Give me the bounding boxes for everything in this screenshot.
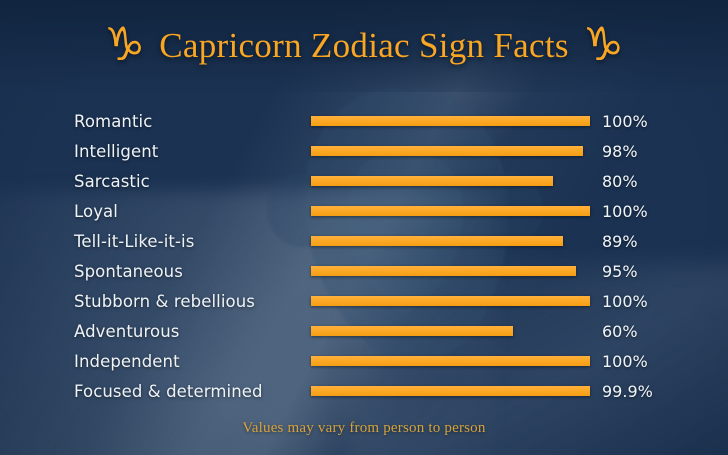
chart-bar	[311, 326, 513, 336]
chart-bar-track	[311, 176, 728, 186]
facts-bar-chart: Romantic100%Intelligent98%Sarcastic80%Lo…	[0, 106, 728, 406]
chart-row: Tell-it-Like-it-is89%	[0, 226, 728, 256]
chart-row-label: Intelligent	[74, 142, 304, 161]
chart-bar	[311, 386, 590, 396]
chart-row-label: Loyal	[74, 202, 304, 221]
chart-bar-track	[311, 146, 728, 156]
footnote-disclaimer: Values may vary from person to person	[0, 420, 728, 437]
chart-row: Loyal100%	[0, 196, 728, 226]
chart-bar	[311, 296, 590, 306]
chart-bar	[311, 266, 576, 276]
chart-bar-track	[311, 236, 728, 246]
chart-row-value: 95%	[602, 262, 638, 281]
chart-row-label: Focused & determined	[74, 382, 304, 401]
chart-row: Focused & determined99.9%	[0, 376, 728, 406]
chart-row-value: 98%	[602, 142, 638, 161]
chart-row: Romantic100%	[0, 106, 728, 136]
chart-row-value: 100%	[602, 352, 648, 371]
chart-row-label: Stubborn & rebellious	[74, 292, 304, 311]
chart-row-label: Adventurous	[74, 322, 304, 341]
chart-bar-track	[311, 356, 728, 366]
chart-row-value: 100%	[602, 292, 648, 311]
chart-bar-track	[311, 266, 728, 276]
capricorn-glyph-right-icon: ♑	[583, 21, 624, 67]
header: ♑ Capricorn Zodiac Sign Facts ♑	[0, 0, 728, 92]
chart-row: Sarcastic80%	[0, 166, 728, 196]
chart-bar-track	[311, 386, 728, 396]
chart-row-value: 100%	[602, 112, 648, 131]
chart-row: Stubborn & rebellious100%	[0, 286, 728, 316]
chart-bar	[311, 146, 583, 156]
chart-bar	[311, 116, 590, 126]
chart-row-value: 80%	[602, 172, 638, 191]
chart-row-value: 60%	[602, 322, 638, 341]
chart-bar	[311, 236, 563, 246]
chart-row-label: Sarcastic	[74, 172, 304, 191]
chart-bar-track	[311, 116, 728, 126]
chart-bar-track	[311, 326, 728, 336]
chart-bar-track	[311, 206, 728, 216]
chart-row-value: 100%	[602, 202, 648, 221]
chart-bar	[311, 176, 553, 186]
chart-row-value: 89%	[602, 232, 638, 251]
chart-row: Intelligent98%	[0, 136, 728, 166]
chart-row-value: 99.9%	[602, 382, 653, 401]
chart-bar	[311, 356, 590, 366]
chart-row: Adventurous60%	[0, 316, 728, 346]
capricorn-glyph-left-icon: ♑	[104, 21, 145, 67]
chart-row-label: Tell-it-Like-it-is	[74, 232, 304, 251]
chart-row-label: Spontaneous	[74, 262, 304, 281]
chart-row: Independent100%	[0, 346, 728, 376]
chart-row-label: Romantic	[74, 112, 304, 131]
page-title: Capricorn Zodiac Sign Facts	[159, 26, 569, 66]
capricorn-facts-infographic: ♑ Capricorn Zodiac Sign Facts ♑ Romantic…	[0, 0, 728, 455]
chart-bar	[311, 206, 590, 216]
chart-bar-track	[311, 296, 728, 306]
chart-row-label: Independent	[74, 352, 304, 371]
chart-row: Spontaneous95%	[0, 256, 728, 286]
